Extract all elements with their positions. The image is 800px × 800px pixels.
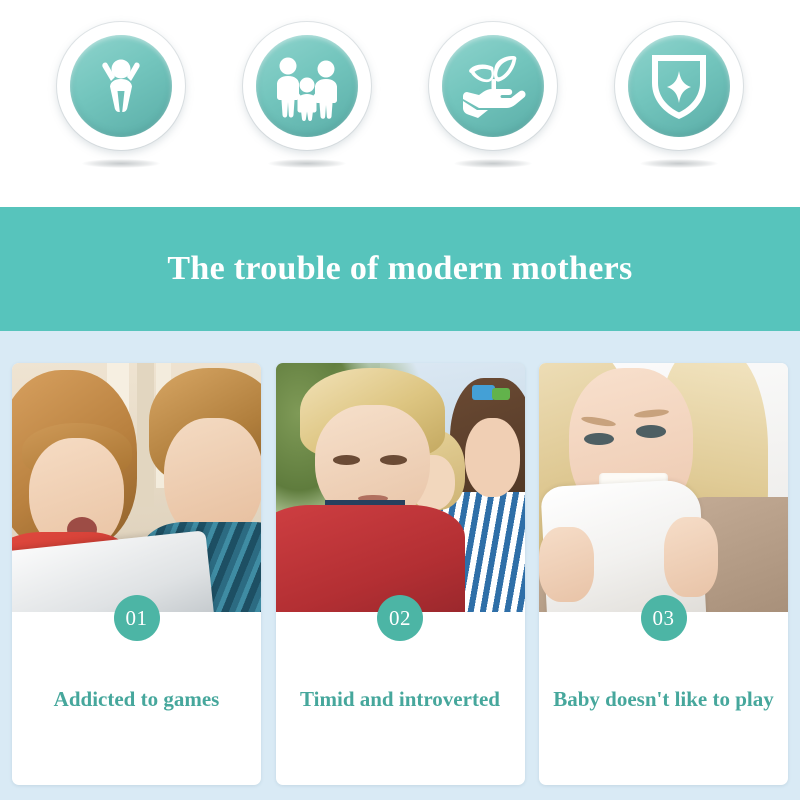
feature-icon-strip: [0, 0, 800, 207]
icon-ring-3: [429, 22, 557, 150]
card-label: Timid and introverted: [300, 686, 500, 712]
card-photo-addicted-to-games: [12, 363, 261, 612]
feature-icon-1: [46, 0, 196, 190]
icon-ring-4: [615, 22, 743, 150]
icon-drop-shadow: [454, 159, 532, 168]
card-number-badge: 03: [641, 595, 687, 641]
card-photo-timid-and-introverted: [276, 363, 525, 612]
feature-icon-3: [418, 0, 568, 190]
shield-sparkle-icon: [628, 35, 730, 137]
icon-ring-1: [57, 22, 185, 150]
card-label: Baby doesn't like to play: [553, 686, 774, 712]
section-banner: The trouble of modern mothers: [0, 207, 800, 331]
feature-icon-2: [232, 0, 382, 190]
family-group-icon: [256, 35, 358, 137]
icon-ring-2: [243, 22, 371, 150]
promo-page: The trouble of modern mothers 01 Addicte…: [0, 0, 800, 800]
hand-holding-plant-icon: [442, 35, 544, 137]
card-number-badge: 01: [114, 595, 160, 641]
person-raised-arms-icon: [70, 35, 172, 137]
card-number-badge: 02: [377, 595, 423, 641]
problem-card-list: 01 Addicted to games 02 Timid and introv…: [0, 331, 800, 800]
card-photo-baby-doesnt-like-to-play: [539, 363, 788, 612]
icon-drop-shadow: [640, 159, 718, 168]
problem-card-2[interactable]: 02 Timid and introverted: [276, 363, 525, 785]
icon-drop-shadow: [268, 159, 346, 168]
page-title: The trouble of modern mothers: [167, 250, 632, 288]
icon-drop-shadow: [82, 159, 160, 168]
card-label: Addicted to games: [54, 686, 220, 712]
feature-icon-4: [604, 0, 754, 190]
problem-card-1[interactable]: 01 Addicted to games: [12, 363, 261, 785]
problem-card-3[interactable]: 03 Baby doesn't like to play: [539, 363, 788, 785]
